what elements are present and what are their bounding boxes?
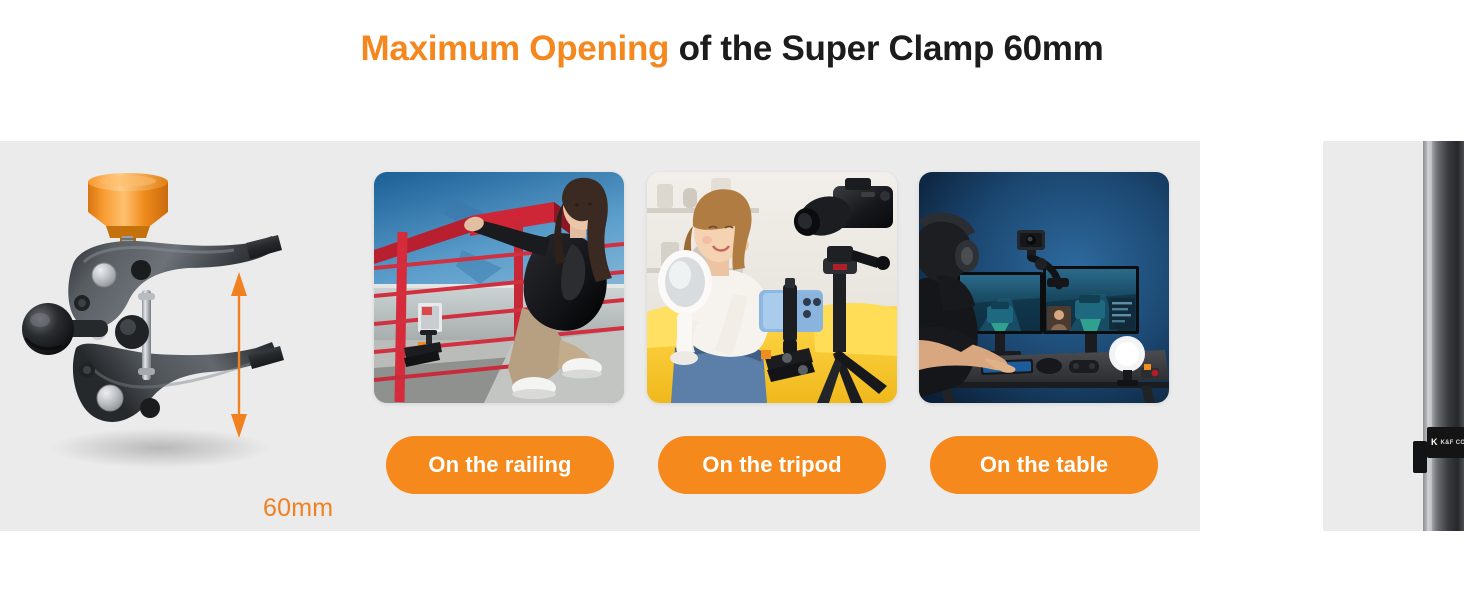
photo-on-the-railing [374, 172, 624, 403]
title-bar: Maximum Opening of the Super Clamp 60mm [0, 0, 1464, 141]
page-title: Maximum Opening of the Super Clamp 60mm [361, 28, 1104, 70]
tightening-knob [88, 173, 168, 238]
clamp-lower-jaw [73, 324, 284, 422]
pole-svg [1323, 141, 1464, 531]
brand-logo-icon: K [1431, 438, 1438, 447]
upper-rivet-dark [131, 260, 151, 280]
button-on-the-railing[interactable]: On the railing [386, 436, 614, 494]
lower-rivet-dark [140, 398, 160, 418]
pole-illustration [1323, 141, 1464, 531]
button-on-the-table[interactable]: On the table [930, 436, 1158, 494]
button-on-the-tripod[interactable]: On the tripod [658, 436, 886, 494]
pole-clamp-bracket [1413, 441, 1427, 473]
brand-badge: K K&F CO [1427, 427, 1464, 458]
brand-badge-text: K&F CO [1441, 440, 1464, 446]
photo-on-the-tripod [647, 172, 897, 403]
clamp-shadow [50, 428, 270, 468]
clamp-product-illustration: 60mm [10, 160, 350, 490]
clamp-upper-jaw [68, 235, 282, 328]
usecase-card-railing[interactable] [374, 172, 624, 403]
usecase-card-table[interactable] [919, 172, 1169, 403]
dimension-label: 60mm [263, 494, 333, 523]
arrow-head-up [231, 272, 247, 296]
clamp-svg [10, 160, 350, 490]
usecase-card-tripod[interactable] [647, 172, 897, 403]
photo-on-the-table [919, 172, 1169, 403]
page-title-accent: Maximum Opening [361, 29, 670, 68]
page-title-rest: of the Super Clamp 60mm [669, 29, 1103, 68]
